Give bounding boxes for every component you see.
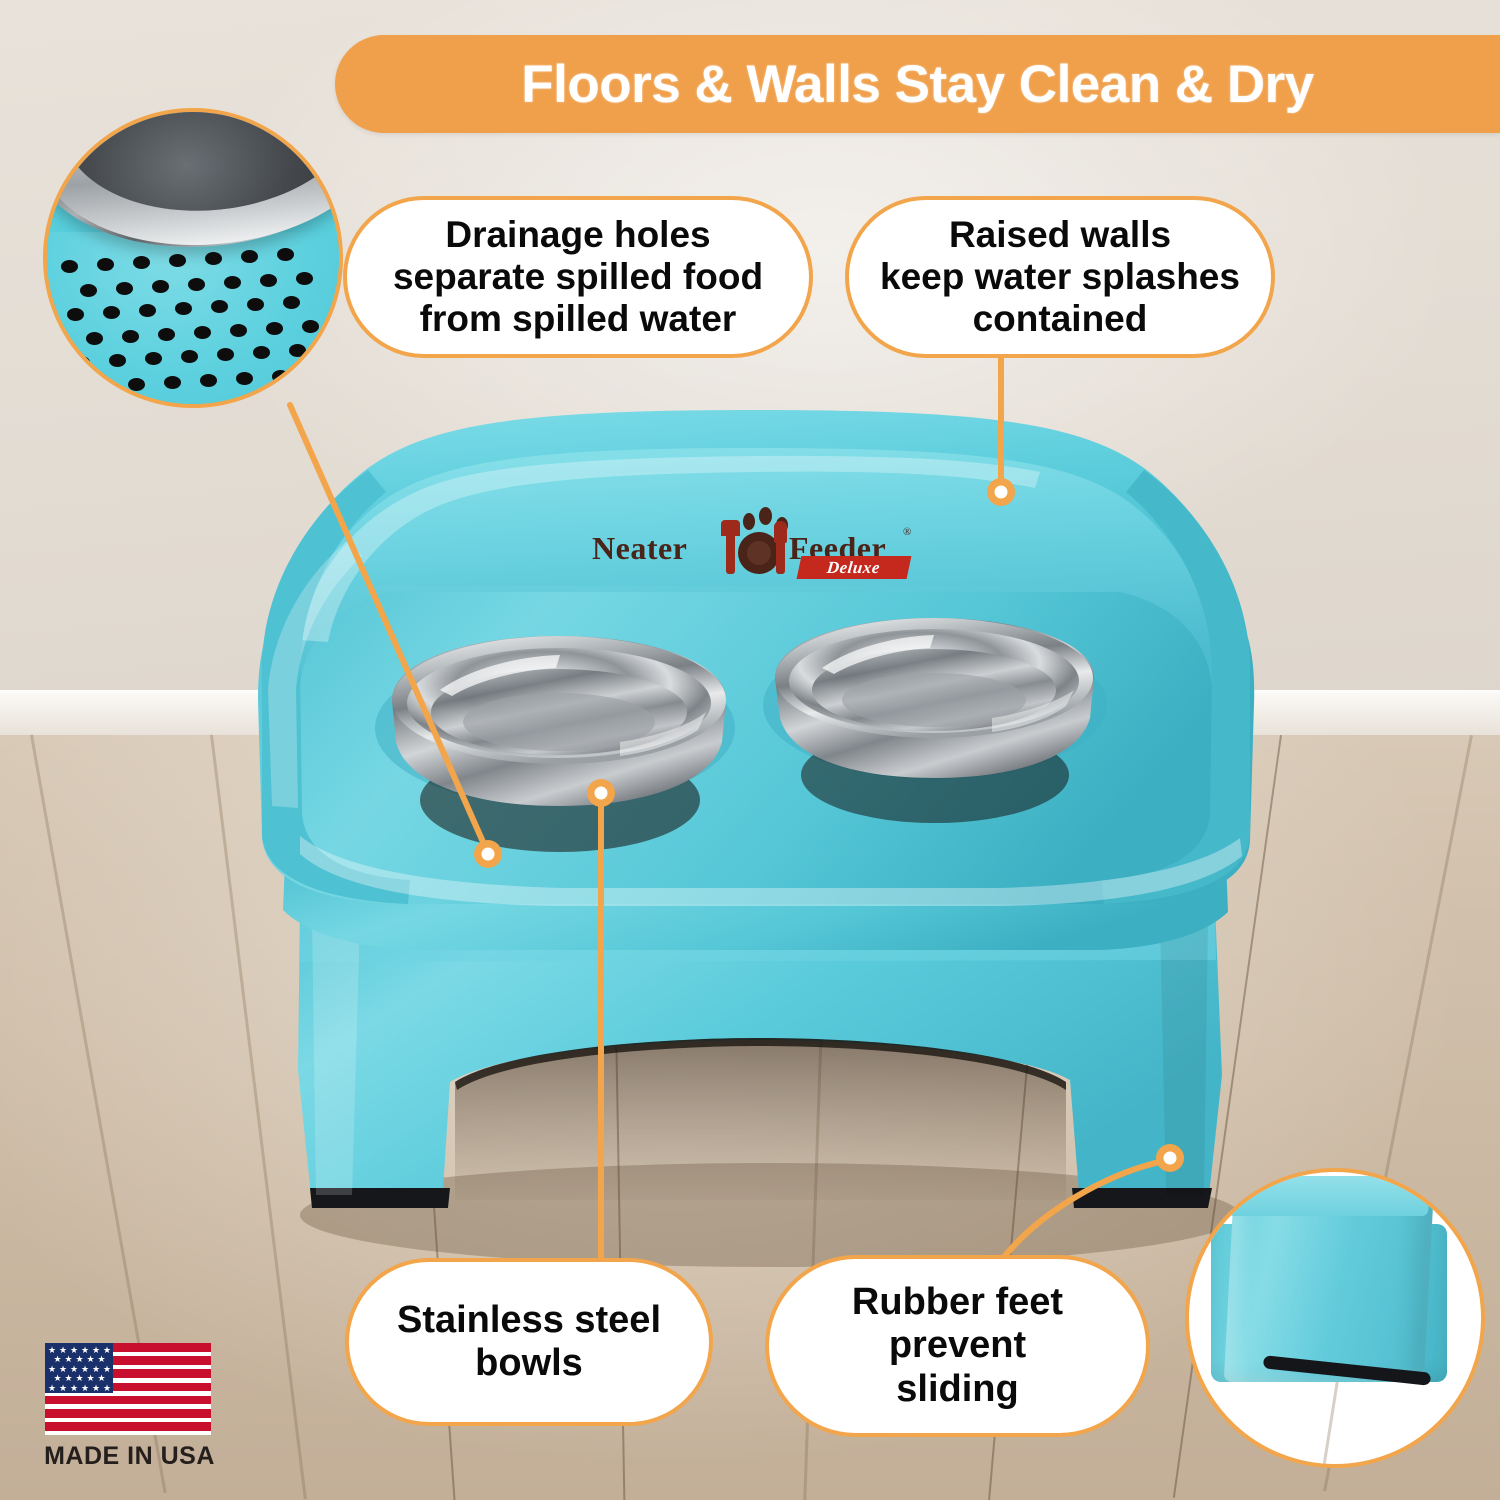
leader-line-rubber-feet: [1000, 1160, 1168, 1262]
drainage-hole: [296, 272, 313, 285]
made-in-usa-text: MADE IN USA: [42, 1442, 217, 1471]
drainage-hole: [169, 254, 186, 267]
callout-line: separate spilled food: [381, 256, 775, 298]
flag-star: ★: [59, 1384, 67, 1393]
infographic-canvas: Neater Feeder ® Deluxe Floors & Walls S: [0, 0, 1500, 1500]
flag-star: ★: [98, 1374, 106, 1383]
callout-line: prevent: [840, 1324, 1075, 1367]
drainage-hole: [80, 284, 97, 297]
flag-star: ★: [70, 1384, 78, 1393]
drainage-hole: [241, 250, 258, 263]
drainage-hole: [289, 344, 306, 357]
drainage-hole: [122, 330, 139, 343]
callout-line: sliding: [840, 1368, 1075, 1411]
drainage-hole: [61, 260, 78, 273]
drainage-hole: [253, 346, 270, 359]
callout-line: from spilled water: [381, 298, 775, 340]
inset-drainage-holes[interactable]: [43, 108, 343, 408]
drainage-hole: [164, 376, 181, 389]
drainage-hole: [224, 276, 241, 289]
drainage-hole: [188, 278, 205, 291]
flag-stripe: [45, 1409, 211, 1418]
leader-line-drainage: [290, 405, 487, 851]
inset-rubber-feet[interactable]: [1185, 1168, 1485, 1468]
drainage-hole: [158, 328, 175, 341]
feeder-leg-top: [1228, 1176, 1430, 1216]
flag-star: ★: [92, 1384, 100, 1393]
flag-star: ★: [65, 1374, 73, 1383]
drainage-hole: [128, 378, 145, 391]
drainage-hole: [92, 380, 109, 393]
drainage-hole: [308, 368, 325, 381]
drainage-hole: [230, 324, 247, 337]
flag-stripe: [45, 1396, 211, 1405]
callout-raised-walls[interactable]: Raised walls keep water splashes contain…: [845, 196, 1275, 358]
flag-star: ★: [48, 1384, 56, 1393]
callout-line: Drainage holes: [381, 214, 775, 256]
drainage-hole: [217, 348, 234, 361]
drainage-hole: [97, 258, 114, 271]
drainage-hole: [236, 372, 253, 385]
drainage-hole: [272, 370, 289, 383]
drainage-hole: [260, 274, 277, 287]
callout-stainless-bowls[interactable]: Stainless steel bowls: [345, 1258, 713, 1426]
flag-star: ★: [87, 1374, 95, 1383]
drainage-hole: [67, 308, 84, 321]
callout-line: keep water splashes: [868, 256, 1252, 298]
drainage-hole: [103, 306, 120, 319]
drainage-hole: [73, 356, 90, 369]
flag-stripe: [45, 1422, 211, 1431]
flag-canton: ★★★★★★★★★★★★★★★★★★★★★★★★★★★★: [45, 1343, 113, 1393]
drainage-hole: [145, 352, 162, 365]
callout-line: Rubber feet: [840, 1281, 1075, 1324]
drainage-hole: [205, 252, 222, 265]
drainage-hole: [283, 296, 300, 309]
drainage-hole: [194, 326, 211, 339]
callout-line: Raised walls: [868, 214, 1252, 256]
drainage-surface: [43, 232, 343, 408]
drainage-hole: [277, 248, 294, 261]
flag-star: ★: [76, 1374, 84, 1383]
callout-line: Stainless steel: [385, 1299, 673, 1342]
drainage-hole: [86, 332, 103, 345]
drainage-hole: [247, 298, 264, 311]
drainage-hole: [175, 302, 192, 315]
drainage-hole: [302, 320, 319, 333]
callout-line: bowls: [385, 1342, 673, 1385]
drainage-hole: [139, 304, 156, 317]
drainage-hole: [211, 300, 228, 313]
drainage-hole: [266, 322, 283, 335]
drainage-hole: [133, 256, 150, 269]
drainage-hole: [152, 280, 169, 293]
drainage-hole: [109, 354, 126, 367]
flag-star: ★: [81, 1384, 89, 1393]
flag-star: ★: [103, 1384, 111, 1393]
callout-drainage-holes[interactable]: Drainage holes separate spilled food fro…: [343, 196, 813, 358]
callout-rubber-feet[interactable]: Rubber feet prevent sliding: [765, 1255, 1150, 1437]
drainage-hole: [181, 350, 198, 363]
callout-line: contained: [868, 298, 1252, 340]
made-in-usa-badge: ★★★★★★★★★★★★★★★★★★★★★★★★★★★★ MADE IN USA: [42, 1343, 220, 1476]
flag-star: ★: [54, 1374, 62, 1383]
drainage-hole: [116, 282, 133, 295]
us-flag-icon: ★★★★★★★★★★★★★★★★★★★★★★★★★★★★: [45, 1343, 211, 1435]
drainage-hole: [200, 374, 217, 387]
